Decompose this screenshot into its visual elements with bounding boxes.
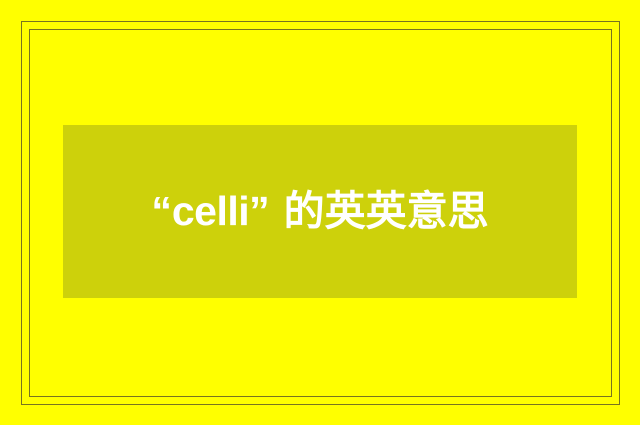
page-canvas: “celli”的英英意思 [0, 0, 640, 425]
term-text: celli [172, 188, 249, 234]
title-banner-panel: “celli”的英英意思 [63, 125, 577, 298]
title-suffix-text: 的英英意思 [284, 188, 489, 234]
closing-quote-mark: ” [249, 188, 270, 234]
page-title: “celli”的英英意思 [150, 180, 490, 244]
opening-quote-mark: “ [151, 188, 172, 234]
